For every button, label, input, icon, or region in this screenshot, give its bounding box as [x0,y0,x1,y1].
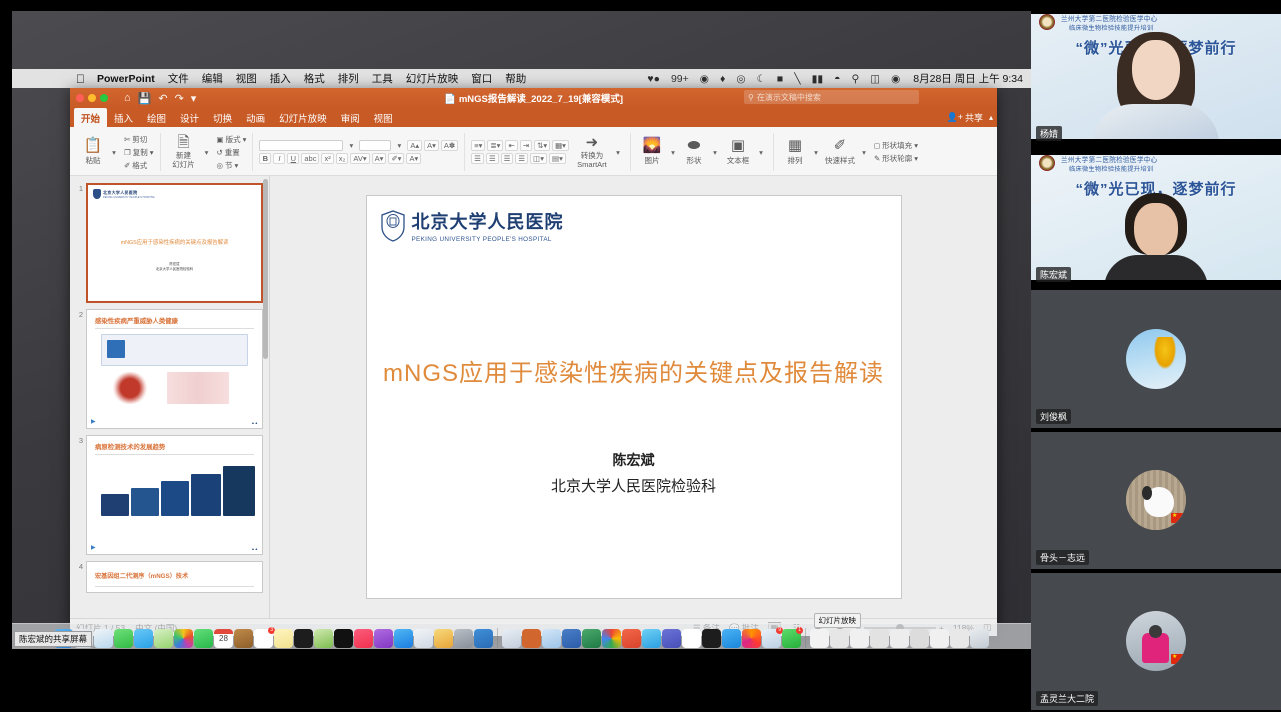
participant-video-strip: 兰州大学第二医院检验医学中心 临床微生物检验技能提升培训 “微”光已现，逐梦前行… [1031,0,1281,712]
dock-tooltip: 幻灯片放映 [814,613,862,628]
picture-label: 图片 [644,155,659,166]
thumbnail-number-3: 3 [74,435,86,555]
underline-button[interactable]: U [287,153,299,164]
paste-label: 粘贴 [86,155,101,166]
tab-insert[interactable]: 插入 [107,108,140,127]
app-a-icon[interactable]: ■ [777,73,783,85]
menu-item-help[interactable]: 帮助 [505,71,526,86]
quick-styles-button[interactable]: ✐ 快速样式 [822,138,858,166]
dock-icon-preview[interactable] [414,629,433,648]
dock-icon-safari[interactable] [94,629,113,648]
subscript-button[interactable]: x₂ [336,153,349,164]
reset-icon: ↺ [217,148,223,157]
control-center-icon[interactable]: ◉ [891,73,900,85]
screen-share-label: 陈宏斌的共享屏幕 [14,631,92,647]
banner-line-2: 临床微生物检验技能提升培训 [1069,23,1153,32]
letterbox-top [1031,149,1281,155]
copy-dropdown-icon[interactable]: ▾ [150,148,154,157]
layout-button[interactable]: ▣版式▾ [217,134,247,145]
slide-affiliation[interactable]: 北京大学人民医院检验科 [367,475,901,496]
convert-to-smartart-button[interactable]: ➜ 转换为 SmartArt [572,135,612,169]
font-row-bottom: B I U abc x² x₂ AV▾ A▾ ✐▾ A▾ [259,153,458,164]
close-window-button[interactable] [76,94,84,102]
play-icon: ▶ [91,418,96,425]
dock-icon-dingtalk[interactable] [722,629,741,648]
menu-item-tools[interactable]: 工具 [372,71,393,86]
dock-icon-wps[interactable] [622,629,641,648]
thumbnail-title-3: 病原检测技术的发展趋势 [95,442,165,451]
thumb-step-4 [191,474,221,516]
text-highlight-button[interactable]: ✐▾ [388,153,404,164]
thumb-divider [95,586,254,587]
person-face [1134,203,1178,257]
avatar [1126,470,1186,530]
shared-screen-region:  PowerPoint 文件 编辑 视图 插入 格式 排列 工具 幻灯片放映 … [12,11,1031,649]
shape-label: 形状 [686,155,701,166]
character-spacing-button[interactable]: AV▾ [350,153,369,164]
quick-access-toolbar: ⌂ 💾 ↶ ↷ ▾ [124,92,196,105]
thumbnail-number-1: 1 [74,183,86,303]
tab-slideshow[interactable]: 幻灯片放映 [272,108,334,127]
textbox-icon: ▣ [731,138,745,153]
ribbon-group-insert: 🌄 图片 ▾ ⬬ 形状 ▾ ▣ 文本框 ▾ [633,129,771,175]
dock-icon-mail[interactable] [134,629,153,648]
dock-icon-doc-7[interactable] [930,629,949,648]
thumb-footer-logo: ▲▲ [251,421,258,425]
ribbon-divider [160,133,161,171]
ribbon-toolbar: 📋 粘贴 ▾ ✄剪切 ❐复制▾ ✐格式 🗎 新建 幻灯片 [70,127,997,176]
person-face [1132,40,1180,100]
search-placeholder: 在演示文稿中搜索 [757,92,821,103]
format-painter-label: 格式 [132,160,147,171]
avatar [1126,329,1186,389]
dock-icon-settings[interactable] [454,629,473,648]
dock-icon-tv[interactable] [334,629,353,648]
shape-outline-button[interactable]: ✎形状轮廓▾ [874,153,918,164]
dock-icon-trash[interactable] [970,629,989,648]
avatar [1126,611,1186,671]
participant-name-3: 刘俊枫 [1036,409,1071,424]
tab-design[interactable]: 设计 [173,108,206,127]
dock-icon-doc-2[interactable] [830,629,849,648]
thumbnail-slide-3[interactable]: 病原检测技术的发展趋势 ▶ ▲▲ [86,435,263,555]
participant-name-5: 孟灵兰大二院 [1036,691,1098,706]
decrease-indent-button[interactable]: ⇤ [505,140,517,151]
layout-icon: ▣ [217,135,224,144]
letterbox-top [1031,8,1281,14]
reset-button[interactable]: ↺重置 [217,147,247,158]
dock-icon-doc-4[interactable] [870,629,889,648]
dock-icon-appstore[interactable] [394,629,413,648]
participant-tile-2[interactable]: 兰州大学第二医院检验医学中心 临床微生物检验技能提升培训 “微”光已现，逐梦前行… [1031,149,1281,286]
dock-icon-excel[interactable] [582,629,601,648]
collapse-ribbon-icon[interactable]: ▴ [989,113,993,122]
thumb-divider [95,328,254,329]
thumbnail-number-2: 2 [74,309,86,429]
paste-dropdown-icon[interactable]: ▾ [108,147,120,158]
menu-item-view[interactable]: 视图 [236,71,257,86]
ribbon-group-paragraph: ≡▾ ≣▾ ⇤ ⇥ ⇅▾ ▦▾ ☰ ☰ ☰ ☰ ◫▾ [467,129,628,175]
font-size-input[interactable] [359,140,391,151]
dock-icon-doc-6[interactable] [910,629,929,648]
thumb-body-graphic [167,372,229,404]
participant-1-camera: 兰州大学第二医院检验医学中心 临床微生物检验技能提升培训 “微”光已现，逐梦前行 [1031,8,1281,145]
columns-button[interactable]: ◫▾ [530,153,547,164]
document-title-text: mNGS报告解读_2022_7_19[兼容模式] [459,94,623,105]
dock-icon-maps[interactable] [154,629,173,648]
ribbon-divider [252,133,253,171]
shape-fill-button[interactable]: ◻形状填充▾ [874,140,918,151]
font-size-dropdown-icon[interactable]: ▾ [393,140,405,151]
copy-label: 复制 [133,147,148,158]
wifi-icon[interactable]: ◓ [834,73,840,85]
thumb-step-3 [161,481,189,516]
slide-presenter-name[interactable]: 陈宏斌 [367,450,901,470]
arrange-dropdown-icon[interactable]: ▾ [810,147,822,158]
hospital-name-en: PEKING UNIVERSITY PEOPLE'S HOSPITAL [412,236,564,243]
new-slide-label: 新建 幻灯片 [172,152,195,169]
dock-icon-doc-8[interactable] [950,629,969,648]
align-left-button[interactable]: ☰ [471,153,484,164]
university-emblem-icon [1039,14,1055,30]
powerpoint-body: 1 北京大学人民医院 PEKING UNIVERSITY PEOPLE'S HO… [70,176,997,618]
dock-icon-terminal[interactable] [294,629,313,648]
dock-icon-endnote[interactable] [682,629,701,648]
ribbon-divider [464,133,465,171]
menu-clock[interactable]: 8月28日 周日 上午 9:34 [913,71,1023,86]
dock-icon-facetime[interactable] [194,629,213,648]
file-icon: 📄 [444,94,456,105]
current-slide[interactable]: 北京大学人民医院 PEKING UNIVERSITY PEOPLE'S HOSP… [366,195,902,599]
university-emblem-icon [1039,155,1055,171]
scissors-icon: ✄ [124,135,130,144]
align-text-button[interactable]: ▤▾ [549,153,566,164]
decrease-font-size-button[interactable]: A▾ [424,140,439,151]
section-button[interactable]: ◎节▾ [217,160,247,171]
slide-canvas-area: 北京大学人民医院 PEKING UNIVERSITY PEOPLE'S HOSP… [270,176,997,618]
screen:  PowerPoint 文件 编辑 视图 插入 格式 排列 工具 幻灯片放映 … [0,0,1281,712]
thumbnail-item-2[interactable]: 2 感染性疾病严重威胁人类健康 ▶ ▲▲ [70,306,269,432]
align-right-button[interactable]: ☰ [501,153,514,164]
thumbnail-scrollbar[interactable] [263,179,268,359]
slide-thumbnail-panel[interactable]: 1 北京大学人民医院 PEKING UNIVERSITY PEOPLE'S HO… [70,176,270,618]
menu-item-arrange[interactable]: 排列 [338,71,359,86]
brush-icon: ✐ [124,161,130,170]
numbering-button[interactable]: ≣▾ [487,140,503,151]
dock-divider [497,628,498,648]
layout-dropdown-icon[interactable]: ▾ [243,135,247,144]
shape-outline-dropdown-icon[interactable]: ▾ [914,154,918,163]
quick-styles-dropdown-icon[interactable]: ▾ [858,147,870,158]
line-spacing-button[interactable]: ⇅▾ [534,140,550,151]
dock-icon-reminders[interactable]: 3 [254,629,273,648]
dock-divider [805,628,806,648]
tab-draw[interactable]: 绘图 [140,108,173,127]
participant-name-1: 杨婧 [1036,126,1062,141]
save-icon[interactable]: 💾 [138,92,152,105]
menu-app-name[interactable]: PowerPoint [97,73,155,85]
participant-2-camera: 兰州大学第二医院检验医学中心 临床微生物检验技能提升培训 “微”光已现，逐梦前行 [1031,149,1281,286]
strikethrough-button[interactable]: abc [301,153,319,164]
record-icon[interactable]: ◎ [736,73,745,85]
flag-badge-icon [1171,654,1184,664]
thumb-footer-logo: ▲▲ [251,547,258,551]
avatar-head-graphic [1149,625,1162,638]
search-input[interactable]: ⚲ 在演示文稿中搜索 [744,90,919,104]
apple-icon[interactable]:  [76,73,85,85]
thumbnail-title-1: mNGS应用于感染性疾病的关键点及报告解读 [88,238,261,246]
thumbnail-number-4: 4 [74,561,86,593]
bullets-button[interactable]: ≡▾ [471,140,485,151]
dock-icon-qq[interactable]: 9 [762,629,781,648]
section-label: 节 [225,160,233,171]
thumbnail-item-3[interactable]: 3 病原检测技术的发展趋势 ▶ ▲▲ [70,432,269,558]
flag-badge-icon [1171,513,1184,523]
text-direction-button[interactable]: ▦▾ [552,140,569,151]
thumbnail-title-4: 宏基因组二代测序（mNGS）技术 [95,571,188,580]
thumbnail-slide-1[interactable]: 北京大学人民医院 PEKING UNIVERSITY PEOPLE'S HOSP… [86,183,263,303]
ribbon-group-slides: 🗎 新建 幻灯片 ▾ ▣版式▾ ↺重置 ◎节▾ [163,129,251,175]
text-effects-button[interactable]: A▾ [372,153,387,164]
powerpoint-window: ⌂ 💾 ↶ ↷ ▾ 📄mNGS报告解读_2022_7_19[兼容模式] 开始 插… [70,88,997,636]
participant-name-4: 骨头－志远 [1036,550,1089,565]
dock-icon-chrome[interactable] [602,629,621,648]
thumb-who-logo [107,340,125,358]
ribbon-divider [773,133,774,171]
play-icon: ▶ [91,544,96,551]
wechat-icon[interactable]: ♥● [647,73,660,85]
textbox-label: 文本框 [727,155,750,166]
arrange-button[interactable]: ▦ 排列 [780,138,810,166]
tab-view[interactable]: 视图 [367,108,400,127]
menu-item-window[interactable]: 窗口 [471,71,492,86]
dock-icon-contacts[interactable] [234,629,253,648]
thumb-presenter: 陈宏斌 [169,262,179,266]
thumb-logo: 北京大学人民医院 PEKING UNIVERSITY PEOPLE'S HOSP… [93,189,155,199]
paste-button[interactable]: 📋 粘贴 [78,138,108,166]
share-button[interactable]: 👤+ 共享 [947,111,983,124]
thumb-affiliation: 北京大学人民医院检验科 [156,267,193,271]
dock-icon-photos[interactable] [174,629,193,648]
thumb-logo-text: 北京大学人民医院 PEKING UNIVERSITY PEOPLE'S HOSP… [103,190,155,199]
mic-muted-icon[interactable]: ╲ [794,73,800,85]
smartart-icon: ➜ [586,135,599,150]
ribbon-tab-strip: 开始 插入 绘图 设计 切换 动画 幻灯片放映 审阅 视图 ⚲ 在演示文稿中搜索… [70,108,997,127]
thumbnail-item-4[interactable]: 4 宏基因组二代测序（mNGS）技术 [70,558,269,596]
thumbnail-slide-4[interactable]: 宏基因组二代测序（mNGS）技术 [86,561,263,593]
dock-icon-doc-3[interactable] [850,629,869,648]
picture-dropdown-icon[interactable]: ▾ [667,147,679,158]
reset-label: 重置 [225,147,240,158]
shape-fill-label: 形状填充 [882,140,912,151]
copy-icon: ❐ [124,148,131,157]
participant-tile-3[interactable]: 刘俊枫 [1031,290,1281,427]
ribbon-right-controls: 👤+ 共享 ▴ [947,108,994,127]
dock-icon-calendar[interactable]: 28 [214,629,233,648]
copy-button[interactable]: ❐复制▾ [124,147,154,158]
dock-icon-rstudio[interactable] [542,629,561,648]
edge-icon[interactable]: ◉ [700,73,709,85]
avatar-leaf-graphic [1154,337,1176,369]
banner-line-2: 临床微生物检验技能提升培训 [1069,164,1153,173]
quick-styles-icon: ✐ [834,138,847,153]
dock-icon-music[interactable] [354,629,373,648]
menu-item-slideshow[interactable]: 幻灯片放映 [406,71,459,86]
menu-item-file[interactable]: 文件 [168,71,189,86]
notification-count: 99+ [671,73,689,85]
participant-tile-5[interactable]: 孟灵兰大二院 [1031,573,1281,710]
dock-icon-messages[interactable] [114,629,133,648]
superscript-button[interactable]: x² [321,153,333,164]
tab-transitions[interactable]: 切换 [206,108,239,127]
section-icon: ◎ [217,161,224,170]
dock-icon-notes[interactable] [274,629,293,648]
dock-icon-sketch[interactable] [434,629,453,648]
redo-icon[interactable]: ↷ [175,92,184,105]
insert-textbox-button[interactable]: ▣ 文本框 [721,138,755,166]
thumbnail-item-1[interactable]: 1 北京大学人民医院 PEKING UNIVERSITY PEOPLE'S HO… [70,180,269,306]
section-dropdown-icon[interactable]: ▾ [235,161,239,170]
battery-icon[interactable]: ▮▮ [812,73,824,85]
minimize-window-button[interactable] [88,94,96,102]
screen-share-icon[interactable]: ◫ [870,73,880,85]
font-color-button[interactable]: A▾ [406,153,421,164]
participant-tile-4[interactable]: 骨头－志远 [1031,432,1281,569]
thumb-virus-graphic [111,372,149,404]
cut-label: 剪切 [132,134,147,145]
slide-title[interactable]: mNGS应用于感染性疾病的关键点及报告解读 [367,353,901,388]
layout-label: 版式 [226,134,241,145]
menu-item-insert[interactable]: 插入 [270,71,291,86]
search-icon[interactable]: ⚲ [851,73,859,85]
dock-icon-firefox[interactable] [742,629,761,648]
undo-icon[interactable]: ↶ [158,92,167,105]
font-name-input[interactable] [259,140,343,151]
arrange-icon: ▦ [788,138,802,153]
thumbnail-subtitle-1: 陈宏斌 北京大学人民医院检验科 [88,262,261,272]
ribbon-group-clipboard: 📋 粘贴 ▾ ✄剪切 ❐复制▾ ✐格式 [74,129,158,175]
format-painter-button[interactable]: ✐格式 [124,160,154,171]
dock-icon-ppt-running[interactable] [522,629,541,648]
letterbox-bottom [1031,139,1281,145]
dock-icon-word[interactable] [562,629,581,648]
menu-item-format[interactable]: 格式 [304,71,325,86]
outline-pen-icon: ✎ [874,154,880,163]
hospital-logo-text: 北京大学人民医院 PEKING UNIVERSITY PEOPLE'S HOSP… [412,208,564,243]
increase-font-size-button[interactable]: A▴ [407,140,422,151]
ribbon-group-drawing: ▦ 排列 ▾ ✐ 快速样式 ▾ ◻形状填充▾ ✎形状轮廓▾ [776,129,922,175]
paragraph-row-bottom: ☰ ☰ ☰ ☰ ◫▾ ▤▾ [471,153,569,164]
share-button-label: 共享 [965,111,983,124]
ribbon-divider [630,133,631,171]
thumb-step-2 [131,488,159,516]
moon-icon[interactable]: ☾ [756,73,765,85]
shape-fill-dropdown-icon[interactable]: ▾ [914,141,918,150]
arrange-label: 排列 [787,155,802,166]
fill-bucket-icon: ◻ [874,141,880,150]
new-slide-button[interactable]: 🗎 新建 幻灯片 [167,135,201,169]
banner-line-1: 兰州大学第二医院检验医学中心 [1061,13,1158,23]
shape-dropdown-icon[interactable]: ▾ [709,147,721,158]
shield-icon [93,189,101,199]
increase-indent-button[interactable]: ⇥ [520,140,532,151]
textbox-dropdown-icon[interactable]: ▾ [755,147,767,158]
hospital-logo: 北京大学人民医院 PEKING UNIVERSITY PEOPLE'S HOSP… [380,208,564,243]
badge-count: 1 [796,627,803,634]
thumb-logo-en: PEKING UNIVERSITY PEOPLE'S HOSPITAL [103,196,155,199]
mac-dock[interactable]: 28 3 9 [12,623,1031,649]
cut-button[interactable]: ✄剪切 [124,134,154,145]
dock-icon-doc-5[interactable] [890,629,909,648]
clipboard-icon: 📋 [84,138,103,153]
smartart-dropdown-icon[interactable]: ▾ [612,147,624,158]
dock-icon-acrobat[interactable] [702,629,721,648]
new-slide-icon: 🗎 [177,135,189,150]
thumbnail-title-2: 感染性疾病严重威胁人类健康 [95,316,178,325]
participant-tile-1[interactable]: 兰州大学第二医院检验医学中心 临床微生物检验技能提升培训 “微”光已现，逐梦前行… [1031,8,1281,145]
insert-shape-button[interactable]: ⬬ 形状 [679,138,709,166]
menu-item-edit[interactable]: 编辑 [202,71,223,86]
justify-button[interactable]: ☰ [515,153,528,164]
dock-icon-podcasts[interactable] [374,629,393,648]
mac-menu-bar:  PowerPoint 文件 编辑 视图 插入 格式 排列 工具 幻灯片放映 … [12,69,1031,88]
font-name-dropdown-icon[interactable]: ▾ [345,140,357,151]
shape-outline-label: 形状轮廓 [882,153,912,164]
shield-icon [380,210,406,242]
tab-home[interactable]: 开始 [74,108,107,127]
share-person-icon: 👤+ [947,112,963,123]
dock-icon-finder-blue[interactable] [474,629,493,648]
new-slide-dropdown-icon[interactable]: ▾ [201,147,213,158]
dock-icon-wechat[interactable]: 1 [782,629,801,648]
tab-review[interactable]: 审阅 [334,108,367,127]
participant-name-2: 陈宏斌 [1036,267,1071,282]
hospital-name-cn: 北京大学人民医院 [412,208,564,234]
font-row-top: ▾ ▾ A▴ A▾ A✽ [259,140,458,151]
bold-button[interactable]: B [259,153,271,164]
dock-icon-numbers[interactable] [314,629,333,648]
ribbon-group-font: ▾ ▾ A▴ A▾ A✽ B I U abc x² [255,129,462,175]
italic-button[interactable]: I [273,153,285,164]
search-icon: ⚲ [748,93,754,102]
paragraph-row-top: ≡▾ ≣▾ ⇤ ⇥ ⇅▾ ▦▾ [471,140,569,151]
align-center-button[interactable]: ☰ [486,153,499,164]
picture-icon: 🌄 [643,138,662,153]
dock-icon-onedrive[interactable] [642,629,661,648]
tab-animations[interactable]: 动画 [239,108,272,127]
banner-line-1: 兰州大学第二医院检验医学中心 [1061,154,1158,164]
avatar-dog-ear [1142,486,1152,500]
convert-smartart-label: 转换为 SmartArt [577,152,607,169]
dock-icon-zoom[interactable] [502,629,521,648]
more-icon[interactable]: ▾ [191,92,197,105]
thumb-step-5 [223,466,255,516]
quick-styles-label: 快速样式 [825,155,855,166]
thumb-step-1 [101,494,129,516]
shape-icon: ⬬ [688,138,701,153]
home-icon[interactable]: ⌂ [124,92,131,104]
dock-icon-doc-1[interactable] [810,629,829,648]
thumb-divider [95,454,254,455]
maximize-window-button[interactable] [100,94,108,102]
dropbox-icon[interactable]: ♦ [720,73,725,85]
insert-picture-button[interactable]: 🌄 图片 [637,138,667,166]
dock-icon-teams[interactable] [662,629,681,648]
clear-formatting-button[interactable]: A✽ [441,140,458,151]
thumbnail-slide-2[interactable]: 感染性疾病严重威胁人类健康 ▶ ▲▲ [86,309,263,429]
